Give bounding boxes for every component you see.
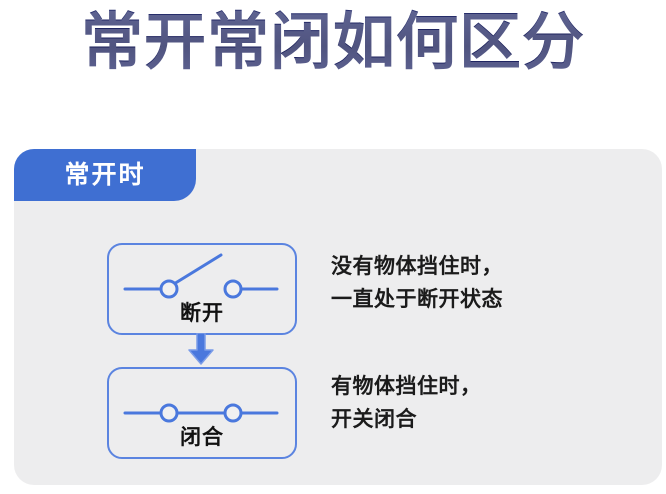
page-title: 常开常闭如何区分 (0, 6, 666, 80)
description-closed-line2: 开关闭合 (331, 403, 482, 436)
switch-diagram-closed: 闭合 (107, 367, 297, 459)
description-closed-line1: 有物体挡住时， (331, 370, 482, 403)
description-open-line2: 一直处于断开状态 (331, 283, 503, 316)
arrow-down-icon (186, 333, 216, 365)
switch-caption-open: 断开 (109, 297, 295, 327)
switch-caption-closed: 闭合 (109, 421, 295, 451)
description-open-line1: 没有物体挡住时， (331, 250, 503, 283)
switch-diagram-open: 断开 (107, 243, 297, 335)
section-tab-normally-open: 常开时 (14, 149, 196, 201)
description-closed: 有物体挡住时， 开关闭合 (331, 370, 482, 436)
section-tab-label: 常开时 (64, 163, 145, 188)
description-open: 没有物体挡住时， 一直处于断开状态 (331, 250, 503, 316)
